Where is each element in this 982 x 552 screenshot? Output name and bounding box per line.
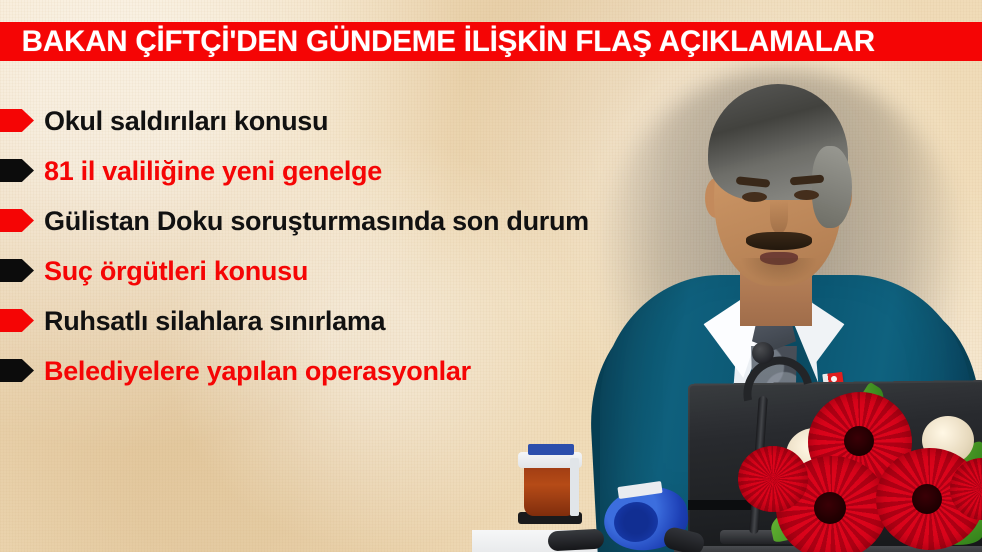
list-item-label: Suç örgütleri konusu (44, 253, 308, 289)
list-item: Ruhsatlı silahlara sınırlama (0, 300, 700, 350)
hair-sideburn (812, 146, 852, 228)
list-item: Suç örgütleri konusu (0, 250, 700, 300)
headline-text: BAKAN ÇİFTÇİ'DEN GÜNDEME İLİŞKİN FLAŞ AÇ… (0, 22, 875, 61)
flower-core (844, 426, 874, 456)
tea-glass-label (528, 444, 574, 455)
list-item-label: Gülistan Doku soruşturmasında son durum (44, 203, 589, 239)
list-item: Okul saldırıları konusu (0, 100, 700, 150)
flower-core (814, 492, 846, 524)
black-handheld-microphone (548, 529, 605, 552)
nose (770, 200, 788, 234)
red-gerbera-flower (738, 446, 808, 512)
flower-core (912, 484, 942, 514)
arrow-marker-icon (0, 259, 34, 282)
tea-glass (524, 464, 576, 516)
arrow-marker-icon (0, 109, 34, 132)
arrow-marker-icon (0, 309, 34, 332)
bullet-list: Okul saldırıları konusu 81 il valiliğine… (0, 100, 700, 400)
list-item: Belediyelere yapılan operasyonlar (0, 350, 700, 400)
list-item-label: Belediyelere yapılan operasyonlar (44, 353, 471, 389)
list-item-label: Ruhsatlı silahlara sınırlama (44, 303, 385, 339)
list-item: Gülistan Doku soruşturmasında son durum (0, 200, 700, 250)
chin-shadow (740, 258, 818, 284)
microphone-head (752, 342, 774, 364)
right-eye (794, 190, 819, 200)
list-item: 81 il valiliğine yeni genelge (0, 150, 700, 200)
arrow-marker-icon (0, 209, 34, 232)
tea-spoon (570, 458, 579, 516)
mustache (746, 232, 812, 250)
arrow-marker-icon (0, 159, 34, 182)
arrow-marker-icon (0, 359, 34, 382)
headline-banner: BAKAN ÇİFTÇİ'DEN GÜNDEME İLİŞKİN FLAŞ AÇ… (0, 22, 982, 61)
list-item-label: 81 il valiliğine yeni genelge (44, 153, 382, 189)
left-eye (742, 192, 767, 202)
list-item-label: Okul saldırıları konusu (44, 103, 328, 139)
news-graphic-canvas: BAKAN ÇİFTÇİ'DEN GÜNDEME İLİŞKİN FLAŞ AÇ… (0, 0, 982, 552)
